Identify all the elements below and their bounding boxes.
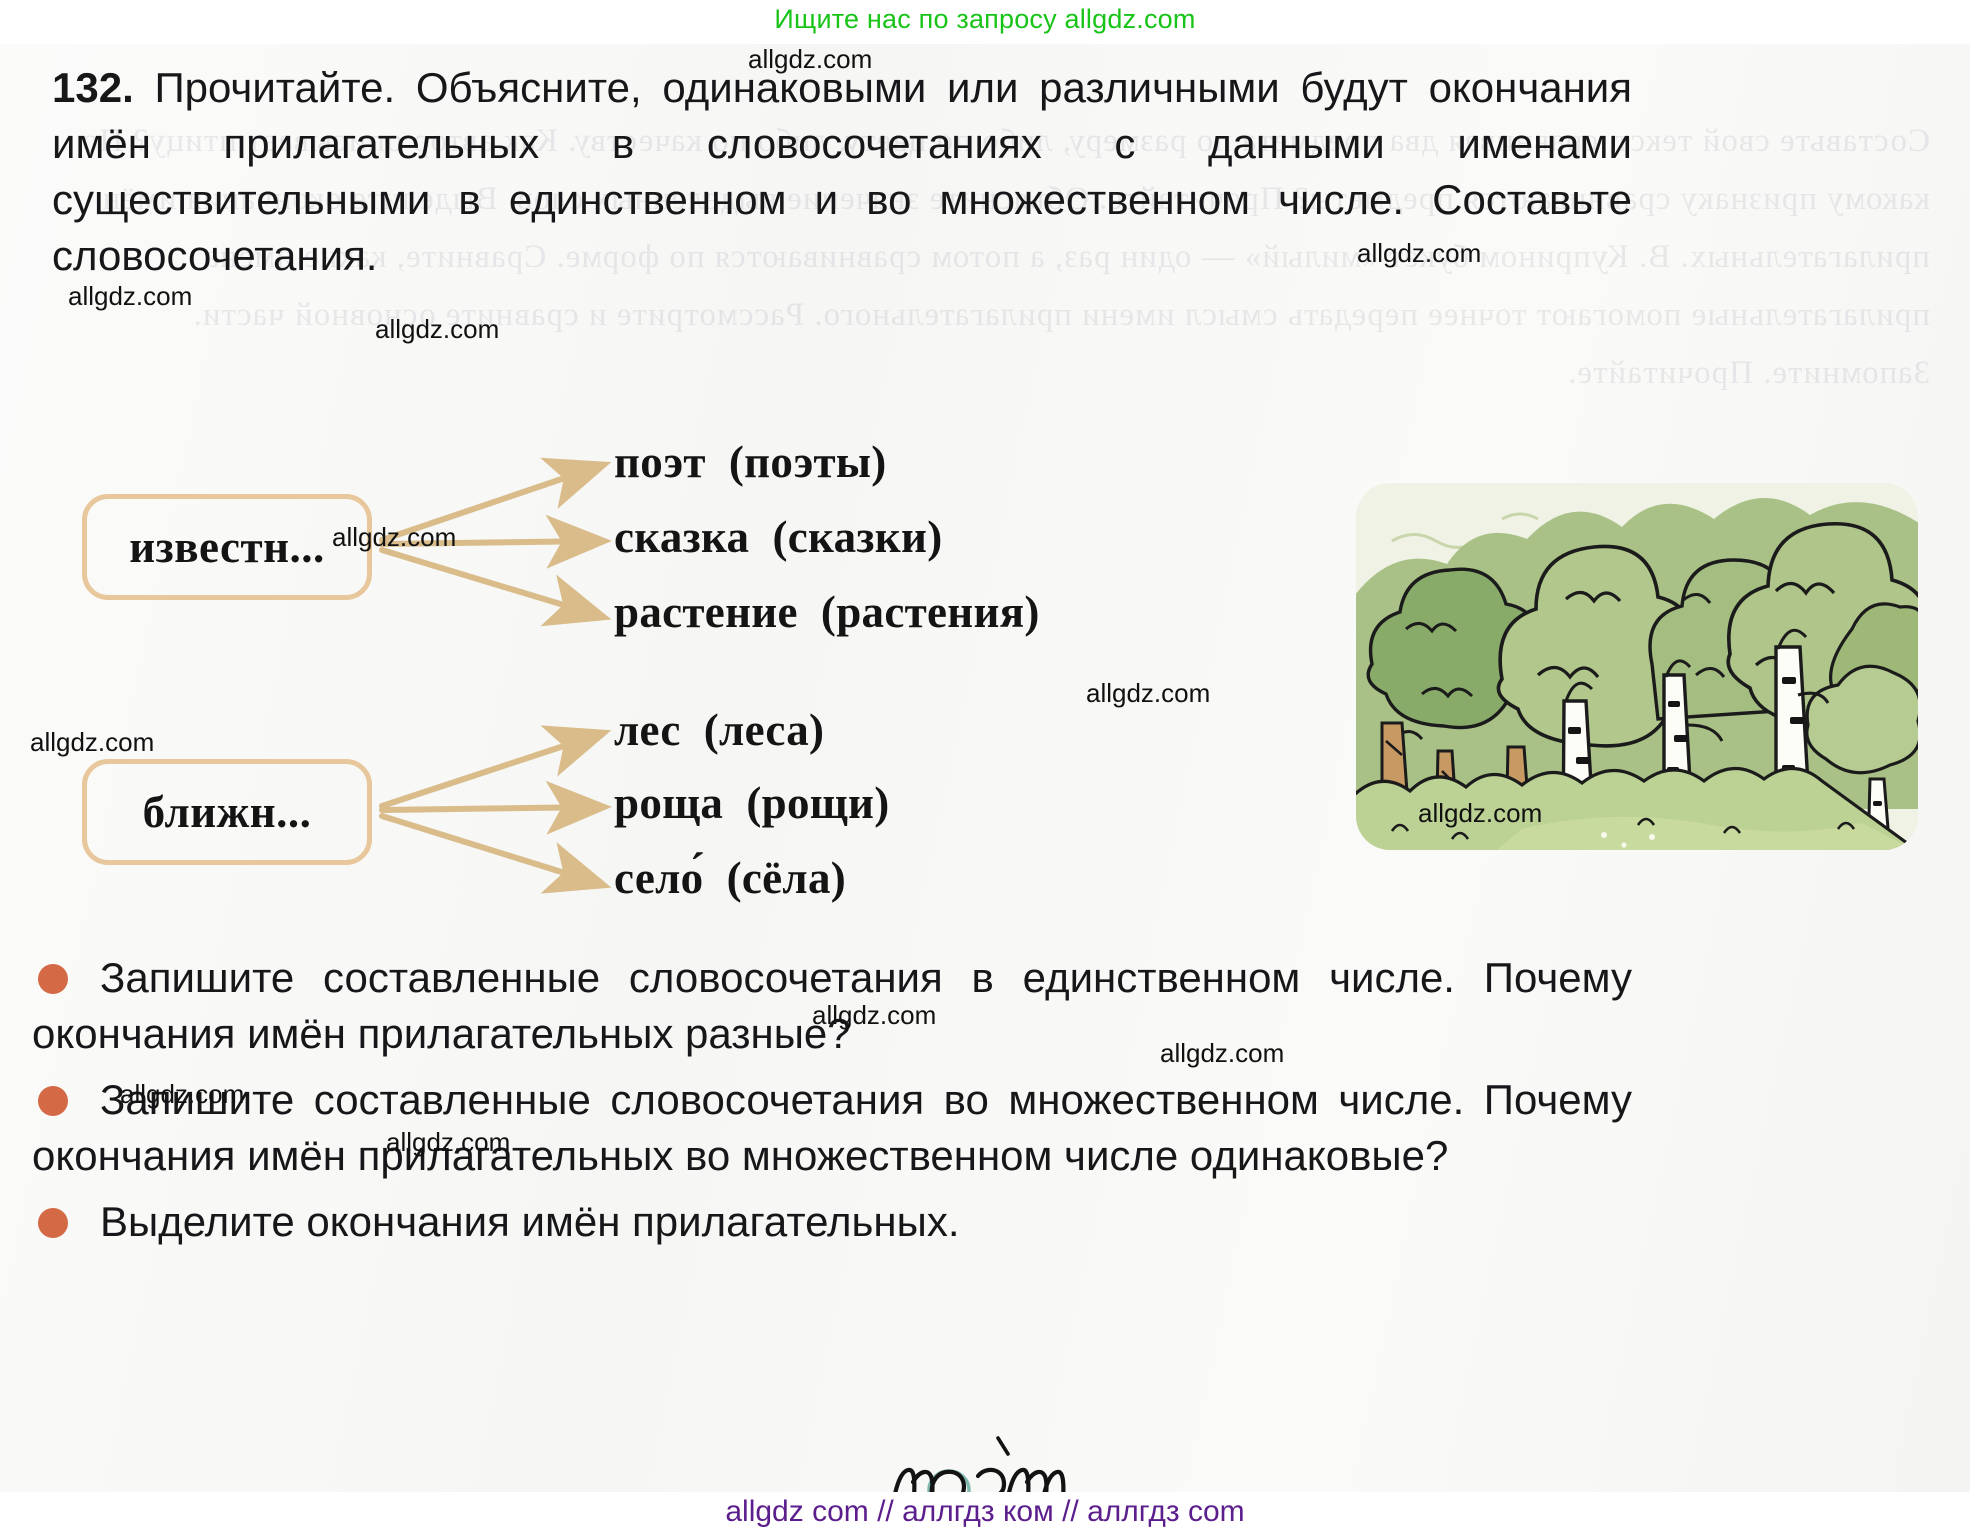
noun-singular: село́ [614, 853, 703, 903]
noun-singular: лес [614, 705, 681, 755]
adjective-box-blizhn[interactable]: ближн... [82, 759, 372, 865]
noun-plural: (леса) [704, 705, 825, 755]
noun-plural: (сёла) [727, 853, 846, 903]
scanned-page: Составьте свой текст, сравнивая два пред… [0, 44, 1970, 1492]
noun-plural: (растения) [821, 587, 1040, 637]
noun-pair-roshcha: роща (рощи) [614, 777, 890, 829]
noun-pair-rastenie: растение (растения) [614, 586, 1040, 638]
page-root: Ищите нас по запросу allgdz.com Составьт… [0, 0, 1970, 1535]
promo-banner: Ищите нас по запросу allgdz.com [0, 4, 1970, 35]
noun-plural: (сказки) [772, 512, 942, 562]
handwritten-word-poet [880, 1424, 1110, 1492]
noun-singular: поэт [614, 437, 706, 487]
word-diagram: известн... ближн... поэт (поэты) сказка … [0, 44, 1970, 1492]
adjective-box-izvestn[interactable]: известн... [82, 494, 372, 600]
footer-text: allgdz com // аллгдз ком // аллгдз com [0, 1495, 1970, 1529]
noun-pair-skazka: сказка (сказки) [614, 511, 943, 563]
noun-pair-poet: поэт (поэты) [614, 436, 887, 488]
noun-pair-selo: село́ (сёла) [614, 852, 846, 904]
noun-singular: растение [614, 587, 798, 637]
noun-singular: роща [614, 778, 723, 828]
noun-plural: (рощи) [746, 778, 889, 828]
noun-plural: (поэты) [729, 437, 887, 487]
noun-pair-les: лес (леса) [614, 704, 824, 756]
noun-singular: сказка [614, 512, 749, 562]
